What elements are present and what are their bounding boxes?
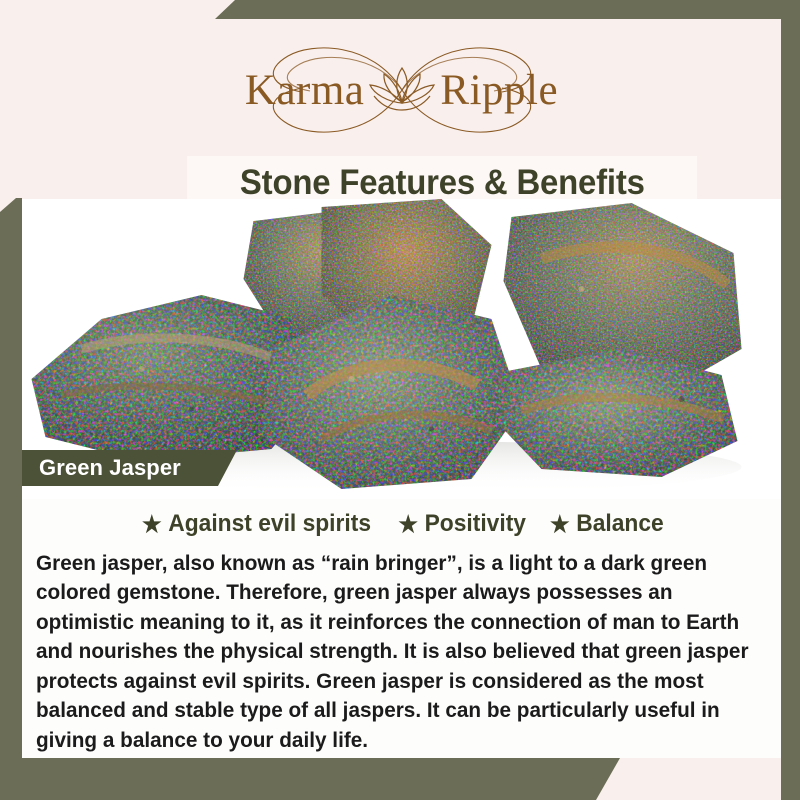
frame-border-left	[0, 198, 22, 800]
frame-border-right	[781, 0, 800, 800]
benefit-item: ★ Balance	[550, 510, 664, 538]
benefits-list: ★ Against evil spirits ★ Positivity ★ Ba…	[22, 499, 781, 543]
brand-name-left: Karma	[245, 66, 365, 115]
benefit-label: Against evil spirits	[168, 510, 371, 538]
stone-name-banner: Green Jasper	[22, 450, 237, 486]
page-title: Stone Features & Benefits	[240, 163, 645, 203]
benefit-label: Positivity	[425, 510, 526, 538]
content-section: ★ Against evil spirits ★ Positivity ★ Ba…	[22, 499, 781, 758]
brand-wordmark: Karma Ripple	[192, 38, 612, 142]
infographic-card: Karma Ripple Stone Features & Benefits	[0, 0, 800, 800]
benefit-item: ★ Against evil spirits	[142, 510, 371, 538]
brand-name-right: Ripple	[440, 66, 558, 115]
star-icon: ★	[550, 513, 570, 536]
description-paragraph: Green jasper, also known as “rain bringe…	[36, 549, 766, 755]
stone-name: Green Jasper	[22, 455, 181, 481]
frame-border-bottom	[0, 758, 620, 800]
header-section: Karma Ripple Stone Features & Benefits	[22, 19, 781, 206]
benefit-item: ★ Positivity	[398, 510, 526, 538]
frame-border-top	[215, 0, 800, 19]
brand-logo: Karma Ripple	[22, 35, 781, 145]
benefit-label: Balance	[577, 510, 664, 538]
star-icon: ★	[398, 513, 418, 536]
star-icon: ★	[142, 513, 162, 536]
